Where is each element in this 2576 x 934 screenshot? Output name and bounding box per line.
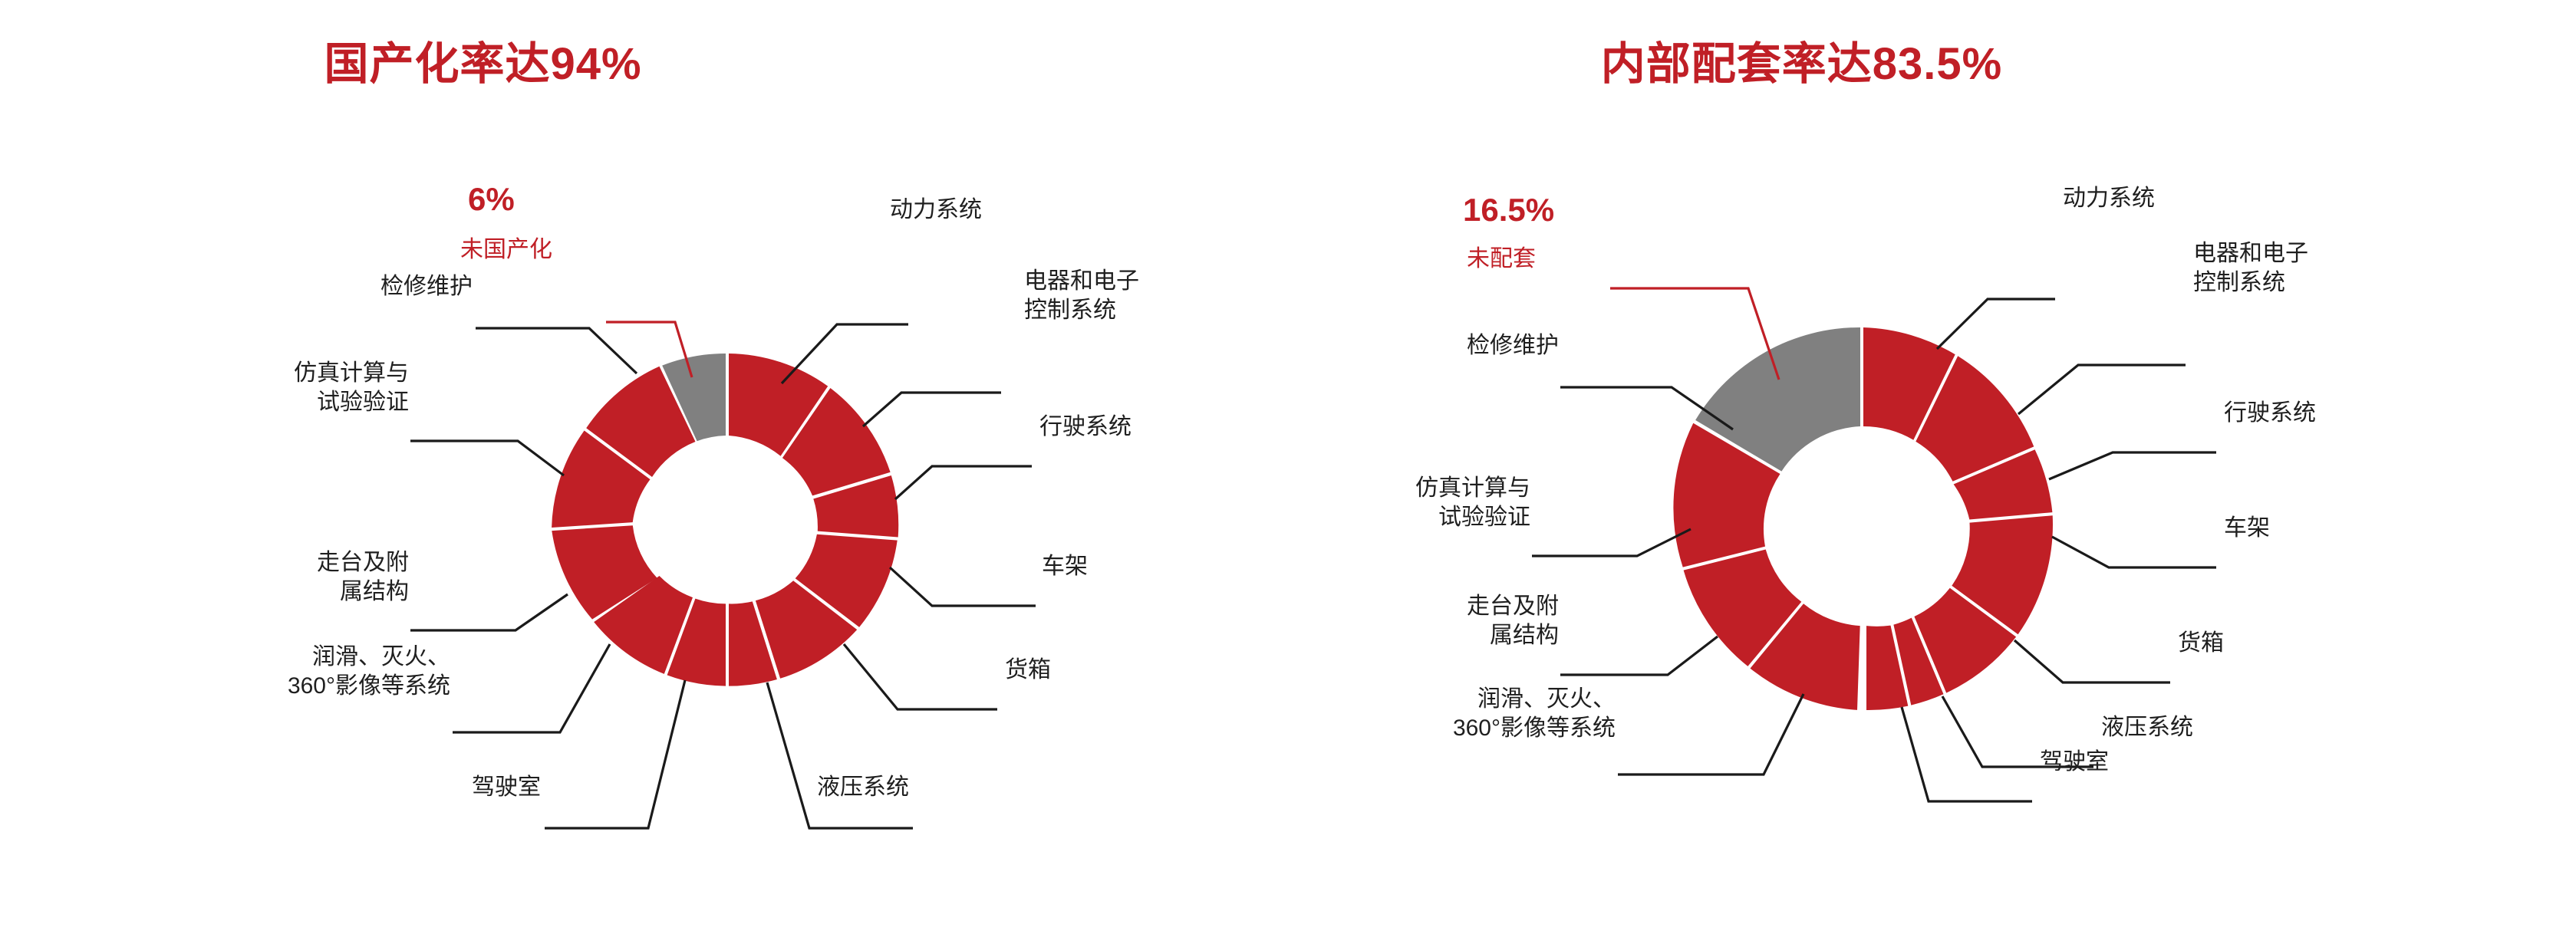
slice-label-driving-system: 行驶系统 <box>1039 413 1132 442</box>
slice-label-electric-control: 电器和电子 控制系统 <box>1024 267 1139 326</box>
leader-line-cargo-box <box>844 644 997 709</box>
slice-label-simulation-test: 仿真计算与 试验验证 <box>157 359 409 418</box>
leader-line-driving-system <box>895 466 1032 499</box>
leader-line-power-system <box>1937 299 2055 349</box>
leader-line-platform-structure <box>410 594 568 630</box>
leader-line-lubrication-360 <box>1618 694 1804 774</box>
callout-label-unlocalized: 未国产化 <box>460 230 552 264</box>
slice-label-maintenance: 检修维护 <box>275 272 473 301</box>
callout-value-unsupported: 16.5% <box>1463 192 1554 229</box>
slice-label-hydraulic-system: 液压系统 <box>817 773 909 802</box>
slice-label-electric-control: 电器和电子 控制系统 <box>2193 239 2308 298</box>
leader-line-maintenance <box>476 328 637 373</box>
leader-line-electric-control <box>863 393 1001 426</box>
slice-label-cab: 驾驶室 <box>2040 748 2109 777</box>
slice-label-power-system: 动力系统 <box>890 196 982 225</box>
slice-label-driving-system: 行驶系统 <box>2224 399 2316 428</box>
slice-label-lubrication-360: 润滑、灭火、 360°影像等系统 <box>1323 685 1616 744</box>
slice-label-simulation-test: 仿真计算与 试验验证 <box>1279 474 1530 533</box>
leader-line-frame <box>2052 537 2216 567</box>
slice-label-platform-structure: 走台及附 属结构 <box>1338 592 1559 651</box>
leader-line-hydraulic-system <box>767 682 913 828</box>
slice-label-maintenance: 检修维护 <box>1361 331 1559 360</box>
slice-label-lubrication-360: 润滑、灭火、 360°影像等系统 <box>157 643 450 702</box>
leader-line-driving-system <box>2049 452 2216 479</box>
leader-line-platform-structure <box>1560 636 1718 675</box>
slice-label-cargo-box: 货箱 <box>2178 629 2224 658</box>
slice-label-cab: 驾驶室 <box>349 773 541 802</box>
slice-label-cargo-box: 货箱 <box>1005 656 1051 685</box>
chart-panel-internal-supporting-rate: 内部配套率达83.5% <box>1288 0 2576 934</box>
slice-label-hydraulic-system: 液压系统 <box>2101 713 2193 742</box>
leader-line-simulation-test <box>410 441 564 475</box>
leader-line-cab <box>1902 707 2032 801</box>
slice-label-power-system: 动力系统 <box>2063 184 2155 213</box>
slice-label-frame: 车架 <box>2224 514 2270 543</box>
callout-label-unsupported: 未配套 <box>1467 239 1536 273</box>
leader-line-lubrication-360 <box>453 644 610 732</box>
leader-line-electric-control <box>2018 365 2186 414</box>
slide-canvas: 国产化率达94% <box>0 0 2576 934</box>
leader-line-simulation-test <box>1532 529 1691 556</box>
donut-chart-internal-supporting-rate <box>1288 0 2576 934</box>
donut-chart-localization-rate <box>0 0 1288 934</box>
slice-label-platform-structure: 走台及附 属结构 <box>188 548 409 607</box>
slice-label-frame: 车架 <box>1042 552 1088 581</box>
chart-panel-localization-rate: 国产化率达94% <box>0 0 1288 934</box>
leader-line-frame <box>890 567 1036 606</box>
leader-line-cargo-box <box>2014 640 2170 682</box>
leader-line-cab <box>545 680 685 828</box>
callout-value-unlocalized: 6% <box>468 181 515 218</box>
